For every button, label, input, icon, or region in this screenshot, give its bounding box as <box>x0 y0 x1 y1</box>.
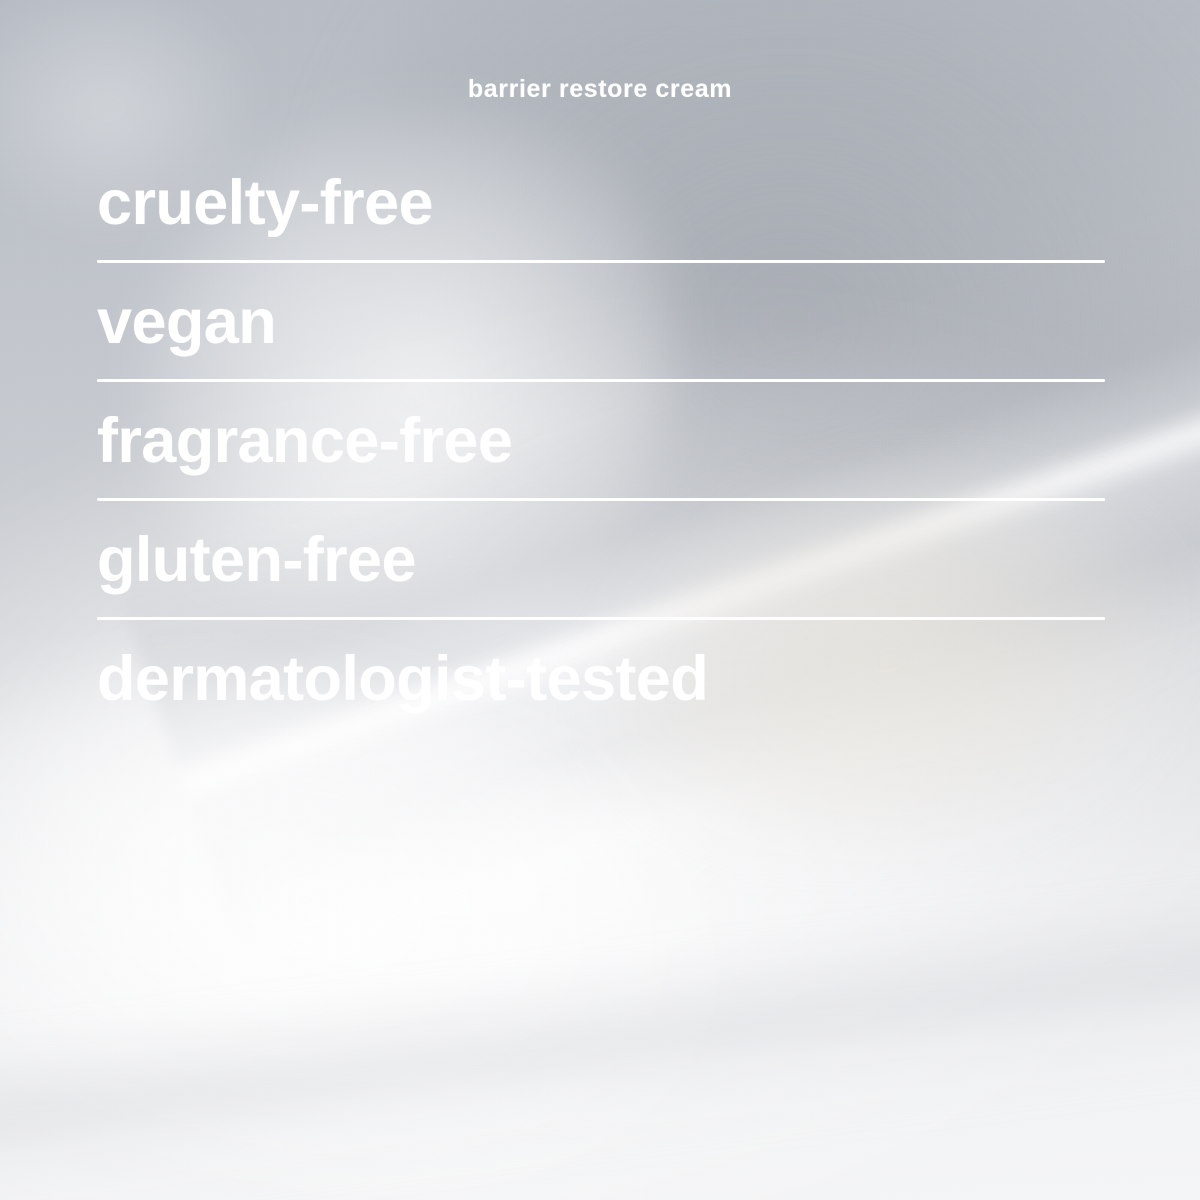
list-item: dermatologist-tested <box>97 620 1105 739</box>
list-item: cruelty-free <box>97 152 1105 263</box>
list-item: fragrance-free <box>97 382 1105 501</box>
card-content: barrier restore cream cruelty-free vegan… <box>0 0 1200 1200</box>
claim-label-dermatologist-tested: dermatologist-tested <box>97 646 708 712</box>
claim-label-fragrance-free: fragrance-free <box>97 408 512 474</box>
list-item: vegan <box>97 263 1105 382</box>
claim-label-cruelty-free: cruelty-free <box>97 170 433 236</box>
claims-list: cruelty-free vegan fragrance-free gluten… <box>97 152 1105 739</box>
list-item: gluten-free <box>97 501 1105 620</box>
claim-label-vegan: vegan <box>97 289 276 355</box>
claim-label-gluten-free: gluten-free <box>97 527 416 593</box>
product-title: barrier restore cream <box>0 73 1200 105</box>
product-claims-card: barrier restore cream cruelty-free vegan… <box>0 0 1200 1200</box>
